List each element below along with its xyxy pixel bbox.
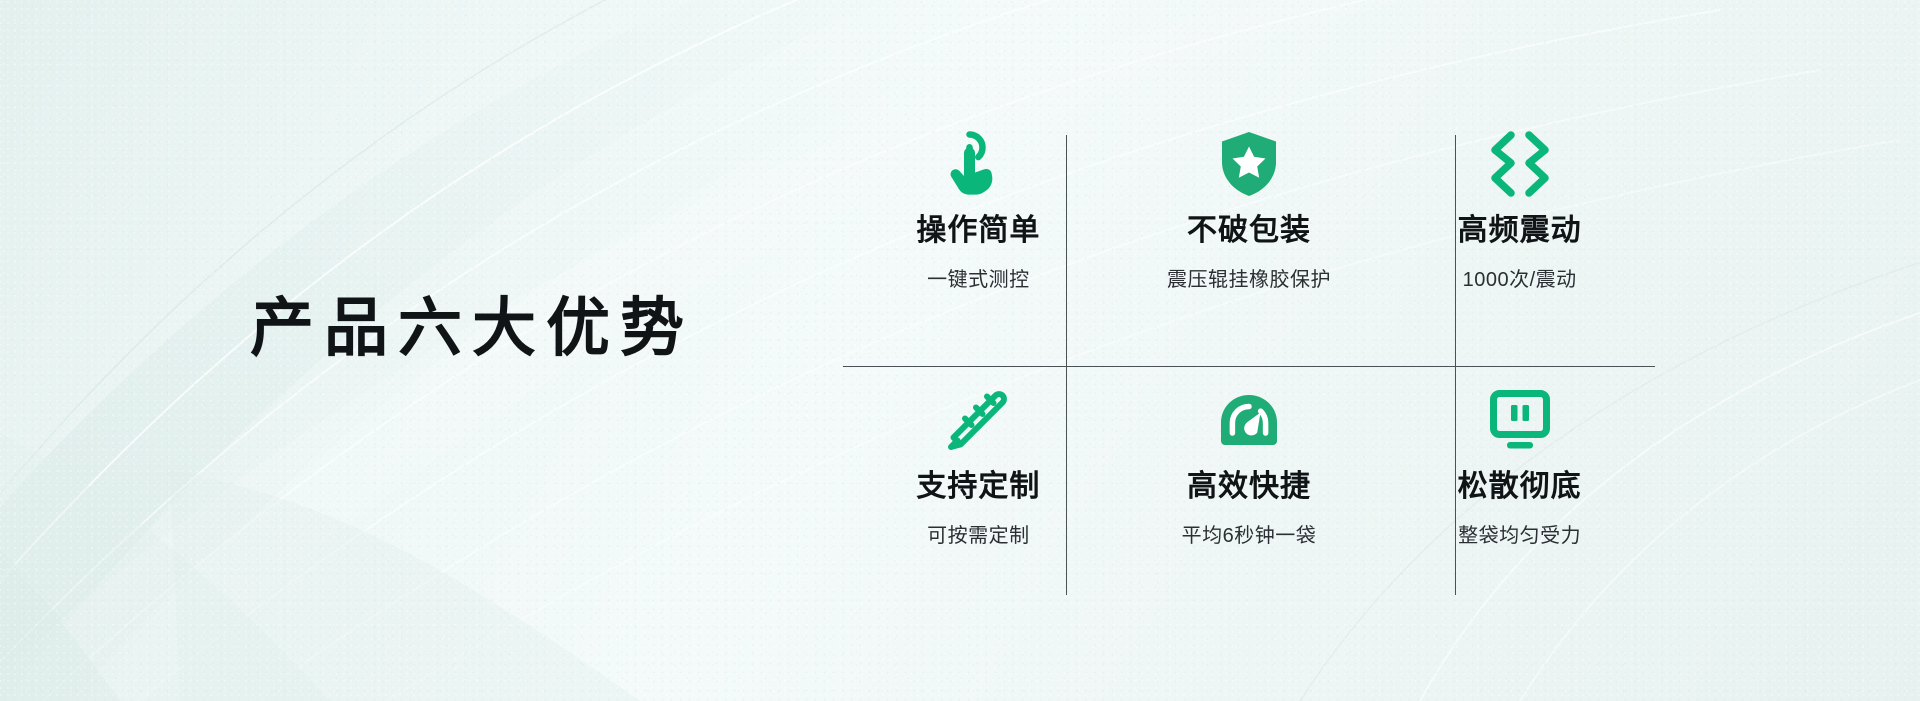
shield-star-icon — [1218, 128, 1280, 200]
speed-gauge-icon — [1216, 384, 1282, 456]
feature-card-package-intact[interactable]: 不破包装 震压辊挂橡胶保护 — [1114, 120, 1385, 360]
feature-title: 不破包装 — [1187, 214, 1311, 247]
feature-subtitle: 一键式测控 — [927, 263, 1030, 292]
feature-subtitle: 可按需定制 — [927, 519, 1030, 548]
crossed-pencil-ruler-icon — [945, 384, 1011, 456]
feature-card-thorough-loosening[interactable]: 松散彻底 整袋均匀受力 — [1384, 360, 1655, 600]
product-advantages-banner: 产品六大优势 操作简单 一键式测控 — [0, 0, 1920, 701]
feature-subtitle: 震压辊挂橡胶保护 — [1167, 263, 1331, 292]
feature-subtitle: 整袋均匀受力 — [1458, 519, 1581, 548]
page-title: 产品六大优势 — [250, 296, 694, 360]
feature-subtitle: 1000次/震动 — [1463, 263, 1577, 292]
feature-grid: 操作简单 一键式测控 不破包装 震压辊挂橡胶保护 高频震动 — [843, 120, 1655, 600]
feature-title: 高效快捷 — [1187, 470, 1311, 503]
feature-card-high-efficiency[interactable]: 高效快捷 平均6秒钟一袋 — [1114, 360, 1385, 600]
feature-title: 支持定制 — [916, 470, 1040, 503]
feature-title: 松散彻底 — [1458, 470, 1582, 503]
feature-card-customization[interactable]: 支持定制 可按需定制 — [843, 360, 1114, 600]
tap-hand-icon — [947, 128, 1009, 200]
vibration-zigzag-icon — [1487, 128, 1553, 200]
feature-title: 操作简单 — [916, 214, 1040, 247]
feature-subtitle: 平均6秒钟一袋 — [1182, 519, 1317, 548]
feature-card-operation-simple[interactable]: 操作简单 一键式测控 — [843, 120, 1114, 360]
monitor-display-icon — [1489, 384, 1551, 456]
feature-card-high-frequency-vibration[interactable]: 高频震动 1000次/震动 — [1384, 120, 1655, 360]
feature-title: 高频震动 — [1458, 214, 1582, 247]
